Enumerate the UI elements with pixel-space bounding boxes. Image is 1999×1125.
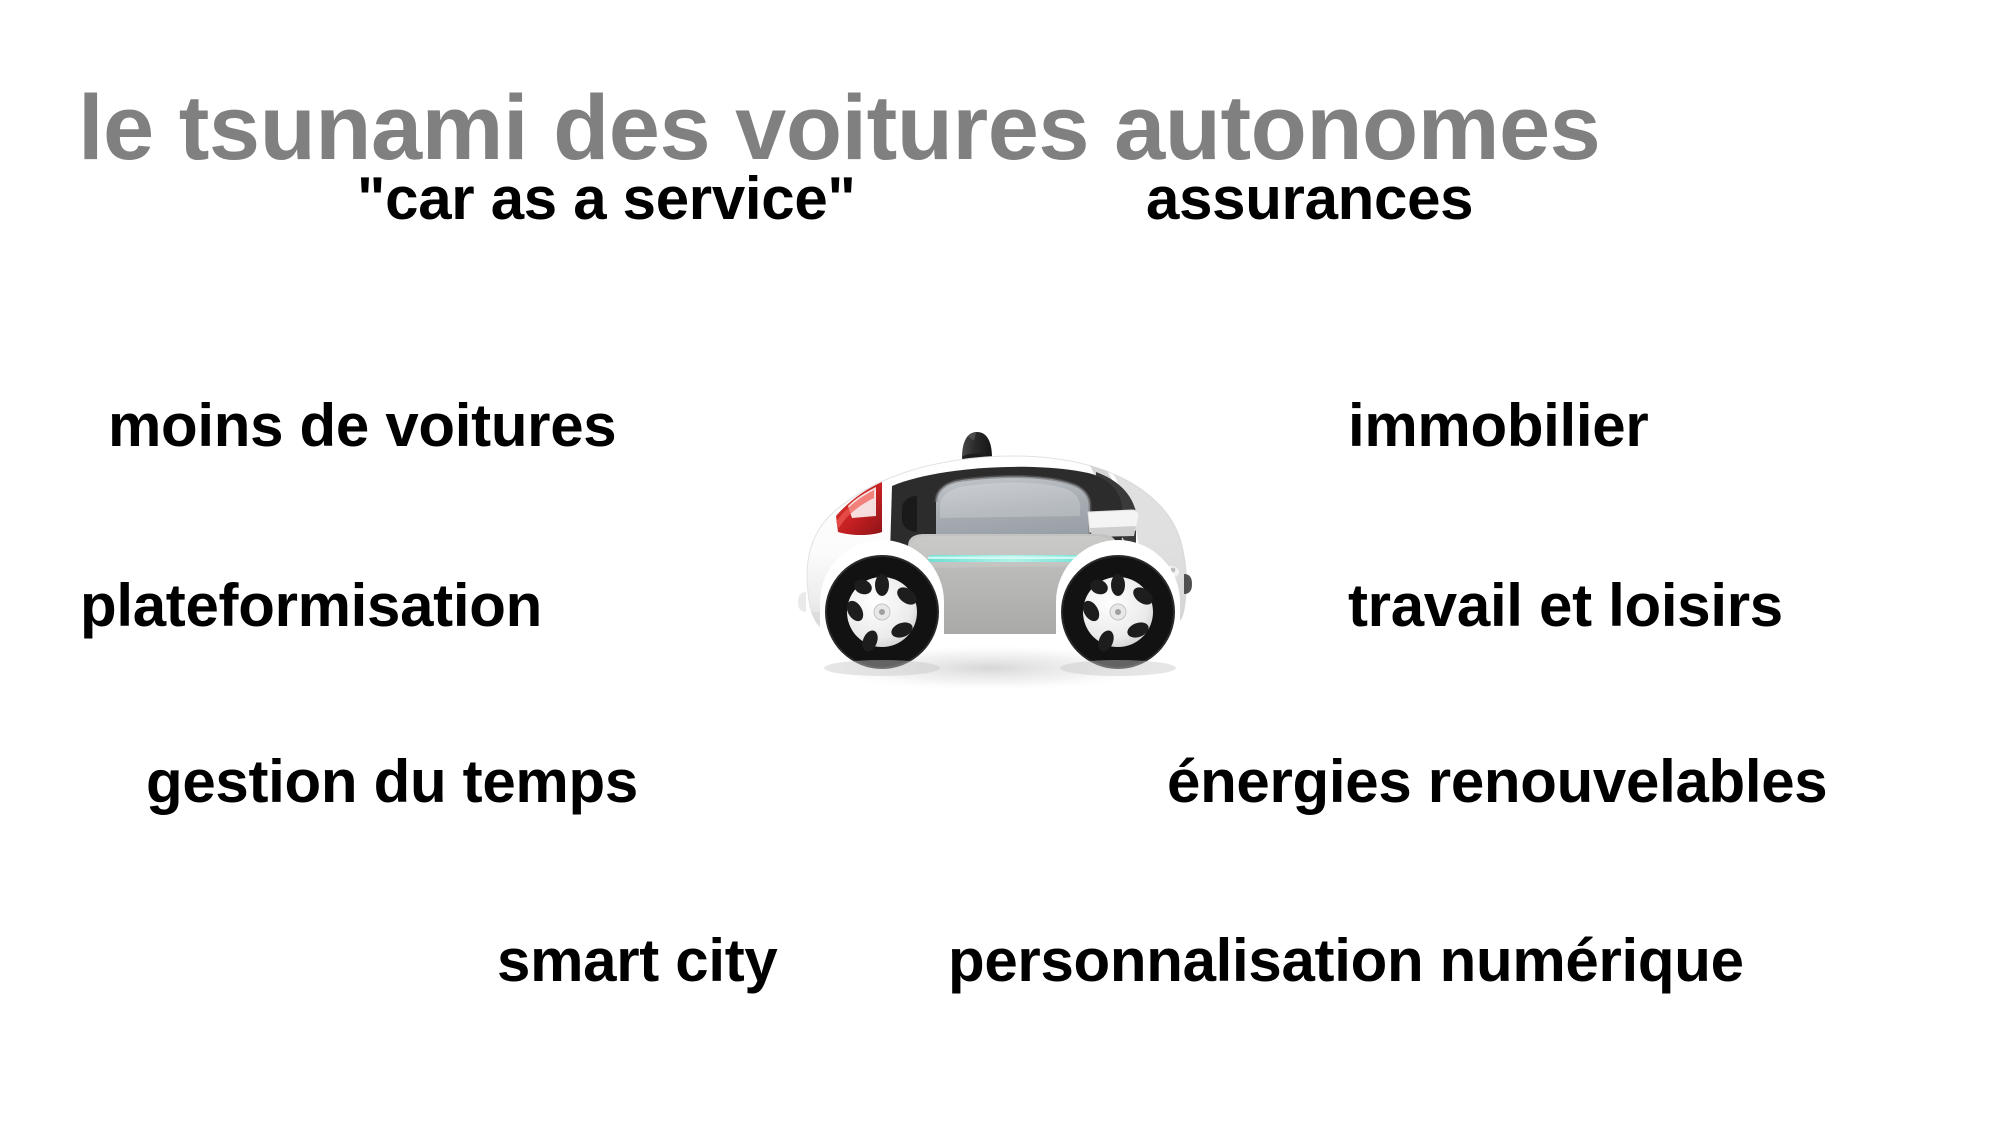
keyword-travail-et-loisirs: travail et loisirs xyxy=(1348,573,1783,639)
keyword-moins-de-voitures: moins de voitures xyxy=(108,393,616,459)
rear-wheel xyxy=(826,556,938,668)
keyword-gestion-du-temps: gestion du temps xyxy=(146,749,638,815)
keyword-personnalisation-numerique: personnalisation numérique xyxy=(948,928,1744,994)
side-mirror xyxy=(1088,510,1139,537)
keyword-plateformisation: plateformisation xyxy=(80,573,542,639)
page-title: le tsunami des voitures autonomes xyxy=(78,76,1878,182)
keyword-immobilier: immobilier xyxy=(1348,393,1648,459)
keyword-energies-renouvelables: énergies renouvelables xyxy=(1167,749,1827,815)
self-driving-car-image xyxy=(740,406,1240,706)
keyword-car-as-a-service: "car as a service" xyxy=(357,166,856,232)
keyword-smart-city: smart city xyxy=(497,928,777,994)
slide-canvas: le tsunami des voitures autonomes "car a… xyxy=(0,0,1999,1125)
front-sensor xyxy=(1184,574,1192,594)
front-wheel xyxy=(1062,556,1174,668)
rear-bumper xyxy=(798,592,806,612)
keyword-assurances: assurances xyxy=(1146,166,1473,232)
